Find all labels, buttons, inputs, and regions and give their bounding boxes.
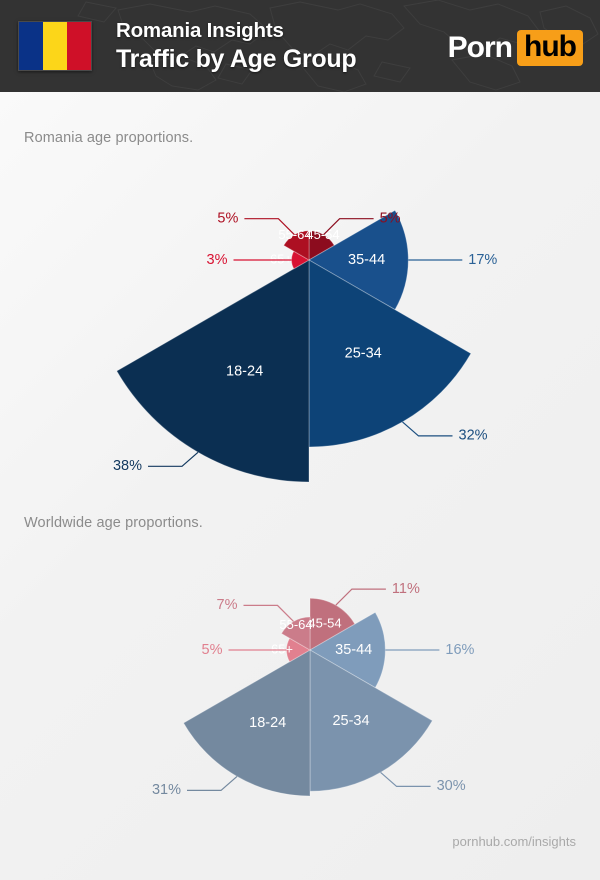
- callout-value-18-24: 31%: [152, 782, 181, 798]
- callout-value-35-44: 16%: [445, 642, 474, 658]
- callout-value-55-64: 7%: [217, 597, 238, 613]
- slice-label-55-64: 55-64: [278, 227, 311, 242]
- slice-label-65plus: 65+: [271, 641, 293, 656]
- callout-leader-45-54: [336, 589, 386, 605]
- romania-slices: [117, 210, 471, 482]
- callout-leader-25-34: [403, 422, 453, 436]
- slice-label-35-44: 35-44: [348, 252, 385, 268]
- slice-label-65plus: 65+: [270, 251, 292, 266]
- callout-value-55-64: 5%: [217, 211, 238, 227]
- flag-stripe-red: [67, 22, 91, 70]
- logo-text-porn: Porn: [448, 33, 517, 63]
- slice-label-18-24: 18-24: [249, 715, 286, 731]
- header-titles: Romania Insights Traffic by Age Group: [116, 18, 356, 75]
- romania-flag: [18, 21, 92, 71]
- page-title: Traffic by Age Group: [116, 44, 356, 75]
- callout-value-18-24: 38%: [113, 458, 142, 474]
- logo-text-hub: hub: [517, 30, 583, 66]
- insights-infographic: Romania Insights Traffic by Age Group Po…: [0, 0, 600, 880]
- worldwide-section-caption: Worldwide age proportions.: [24, 515, 203, 531]
- slice-label-25-34: 25-34: [345, 346, 382, 362]
- slice-label-35-44: 35-44: [335, 642, 372, 658]
- chart-romania-age-proportions: 45-5435-4425-3418-2465+55-64 5%17%32%38%…: [0, 150, 600, 505]
- slice-label-45-54: 45-54: [308, 615, 341, 630]
- slice-label-25-34: 25-34: [332, 713, 369, 729]
- callout-value-35-44: 17%: [468, 252, 497, 268]
- slice-18-24[interactable]: [184, 650, 310, 796]
- footer-link[interactable]: pornhub.com/insights: [452, 834, 576, 849]
- callout-value-25-34: 32%: [459, 428, 488, 444]
- callout-leader-25-34: [381, 772, 431, 786]
- callout-value-25-34: 30%: [437, 778, 466, 794]
- slice-label-18-24: 18-24: [226, 363, 263, 379]
- slice-label-55-64: 55-64: [279, 617, 312, 632]
- callout-value-45-54: 11%: [392, 581, 420, 597]
- pornhub-logo[interactable]: Porn hub: [448, 30, 583, 66]
- romania-section-caption: Romania age proportions.: [24, 130, 193, 146]
- flag-stripe-yellow: [43, 22, 67, 70]
- callout-leader-18-24: [148, 452, 198, 466]
- flag-stripe-blue: [19, 22, 43, 70]
- callout-value-65plus: 3%: [207, 252, 228, 268]
- chart-worldwide-age-proportions: 45-5435-4425-3418-2465+55-64 11%16%30%31…: [0, 540, 600, 820]
- callout-leader-18-24: [187, 776, 237, 790]
- callout-value-65plus: 5%: [202, 642, 223, 658]
- page-supertitle: Romania Insights: [116, 18, 356, 44]
- page-header: Romania Insights Traffic by Age Group Po…: [0, 0, 600, 92]
- slice-18-24[interactable]: [117, 260, 309, 482]
- callout-value-45-54: 5%: [380, 211, 401, 227]
